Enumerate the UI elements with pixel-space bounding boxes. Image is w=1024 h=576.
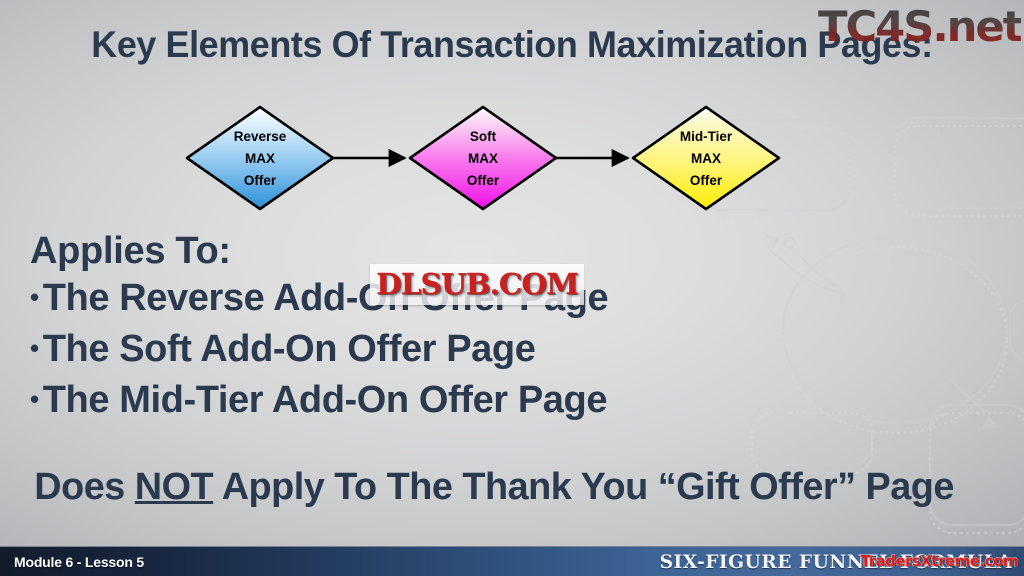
does-not-apply-before: Does bbox=[34, 466, 134, 508]
bullet-dot-icon: • bbox=[30, 273, 39, 321]
flow-node-reverse-max-offer[interactable]: Reverse MAX Offer bbox=[187, 107, 333, 209]
list-item: • The Soft Add-On Offer Page bbox=[30, 325, 608, 376]
flow-diagram: Reverse MAX Offer Soft MAX Offer Mid-Tie… bbox=[182, 104, 842, 216]
flow-node-midtier-line-2: MAX bbox=[691, 151, 721, 166]
slide-canvas: Key Elements Of Transaction Maximization… bbox=[0, 0, 1024, 576]
list-item: • The Mid-Tier Add-On Offer Page bbox=[30, 376, 608, 427]
flow-node-midtier-line-3: Offer bbox=[690, 173, 723, 188]
does-not-apply-line: Does NOT Apply To The Thank You “Gift Of… bbox=[34, 466, 954, 509]
flow-node-reverse-line-1: Reverse bbox=[234, 129, 287, 144]
dlsub-watermark: DLSUB.COM bbox=[370, 264, 584, 305]
list-item-label: The Soft Add-On Offer Page bbox=[43, 325, 536, 373]
footer-module-label: Module 6 - Lesson 5 bbox=[14, 554, 144, 570]
flow-node-mid-tier-max-offer[interactable]: Mid-Tier MAX Offer bbox=[633, 107, 779, 209]
flow-node-midtier-line-1: Mid-Tier bbox=[680, 129, 733, 144]
flow-node-soft-line-3: Offer bbox=[467, 173, 500, 188]
body-text-block: Applies To: • The Reverse Add-On Offer P… bbox=[30, 228, 608, 427]
does-not-apply-after: Apply To The Thank You “Gift Offer” Page bbox=[213, 466, 954, 508]
flow-node-soft-line-2: MAX bbox=[468, 151, 498, 166]
flow-node-soft-max-offer[interactable]: Soft MAX Offer bbox=[410, 107, 556, 209]
tc4s-watermark: TC4S.net bbox=[818, 2, 1021, 51]
tradersxtreme-watermark: TradersXtreme.com bbox=[861, 552, 1018, 570]
flow-node-reverse-line-3: Offer bbox=[244, 173, 277, 188]
list-item-label: The Mid-Tier Add-On Offer Page bbox=[43, 376, 607, 424]
bullet-dot-icon: • bbox=[30, 375, 39, 423]
does-not-apply-emphasis: NOT bbox=[135, 466, 213, 508]
flow-node-soft-line-1: Soft bbox=[470, 129, 497, 144]
footer-bar: Module 6 - Lesson 5 SIX-FIGURE FUNNEL FO… bbox=[0, 546, 1024, 576]
flow-node-reverse-line-2: MAX bbox=[245, 151, 275, 166]
bullet-dot-icon: • bbox=[30, 324, 39, 372]
